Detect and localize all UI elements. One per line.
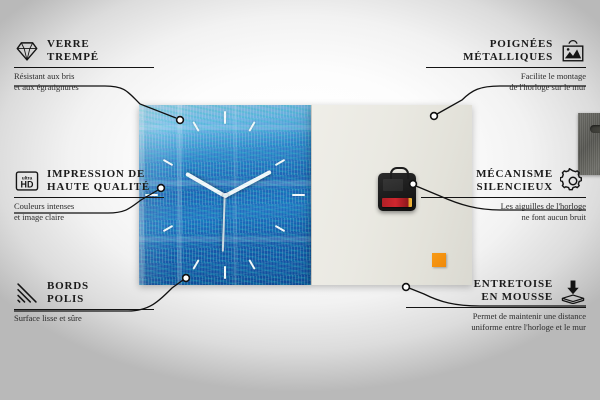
callout-sub: Facilite le montage de l'horloge sur le … [426, 71, 586, 93]
tick-3 [292, 194, 305, 196]
clock-front-panel [139, 105, 311, 285]
tick-1 [248, 121, 255, 132]
callout-poignees-metalliques: POIGNÉES MÉTALLIQUES Facilite le montage… [426, 38, 586, 93]
hanger-keyhole-slot [590, 125, 600, 133]
callout-header: VERRE TREMPÉ [14, 38, 154, 64]
callout-header: MÉCANISME SILENCIEUX [421, 168, 586, 194]
clock-hub [223, 193, 228, 198]
callout-rule [406, 307, 586, 308]
gear-icon [560, 168, 586, 194]
mechanism-face-detail [383, 179, 403, 191]
callout-sub: Permet de maintenir une distance uniform… [406, 311, 586, 333]
callout-sub: Résistant aux bris et aux égratignures [14, 71, 154, 93]
callout-header: POIGNÉES MÉTALLIQUES [426, 38, 586, 64]
ultra-hd-icon: ultra HD [14, 168, 40, 194]
mechanism-hanging-loop [390, 167, 409, 179]
tick-4 [275, 225, 286, 232]
diamond-icon [14, 38, 40, 64]
tick-11 [192, 121, 199, 132]
battery [382, 198, 412, 207]
minute-hand [224, 170, 272, 198]
callout-rule [14, 197, 164, 198]
callout-mecanisme-silencieux: MÉCANISME SILENCIEUX Les aiguilles de l'… [421, 168, 586, 223]
callout-bords-polis: BORDS POLIS Surface lisse et sûre [14, 280, 154, 324]
callout-title: IMPRESSION DE HAUTE QUALITÉ [47, 168, 150, 194]
tick-2 [275, 159, 286, 166]
callout-sub: Surface lisse et sûre [14, 313, 154, 324]
foam-spacer-icon [560, 278, 586, 304]
svg-text:HD: HD [21, 180, 34, 190]
callout-rule [421, 197, 586, 198]
clock-mechanism-box [378, 173, 416, 211]
tick-10 [163, 159, 174, 166]
tick-8 [163, 225, 174, 232]
foam-spacer-pad [432, 253, 446, 267]
tick-7 [192, 259, 199, 270]
callout-sub: Les aiguilles de l'horloge ne font aucun… [421, 201, 586, 223]
callout-verre-trempe: VERRE TREMPÉ Résistant aux bris et aux é… [14, 38, 154, 93]
callout-rule [14, 67, 154, 68]
callout-title: ENTRETOISE EN MOUSSE [474, 278, 553, 304]
callout-entretoise-mousse: ENTRETOISE EN MOUSSE Permet de maintenir… [406, 278, 586, 333]
metal-hanger-plate [578, 113, 600, 175]
wall-mount-frame-icon [560, 38, 586, 64]
callout-header: ENTRETOISE EN MOUSSE [406, 278, 586, 304]
polished-edges-icon [14, 280, 40, 306]
callout-header: ultra HD IMPRESSION DE HAUTE QUALITÉ [14, 168, 164, 194]
callout-rule [426, 67, 586, 68]
tick-12 [224, 111, 226, 124]
tick-5 [248, 259, 255, 270]
callout-title: MÉCANISME SILENCIEUX [476, 168, 553, 194]
callout-sub: Couleurs intenses et image claire [14, 201, 164, 223]
callout-title: BORDS POLIS [47, 280, 89, 306]
infographic-canvas: VERRE TREMPÉ Résistant aux bris et aux é… [0, 0, 600, 400]
callout-rule [14, 309, 154, 310]
hour-hand [185, 172, 226, 198]
tick-6 [224, 266, 226, 279]
callout-title: POIGNÉES MÉTALLIQUES [463, 38, 553, 64]
callout-header: BORDS POLIS [14, 280, 154, 306]
callout-title: VERRE TREMPÉ [47, 38, 99, 64]
second-hand [222, 196, 225, 252]
callout-impression-hd: ultra HD IMPRESSION DE HAUTE QUALITÉ Cou… [14, 168, 164, 223]
